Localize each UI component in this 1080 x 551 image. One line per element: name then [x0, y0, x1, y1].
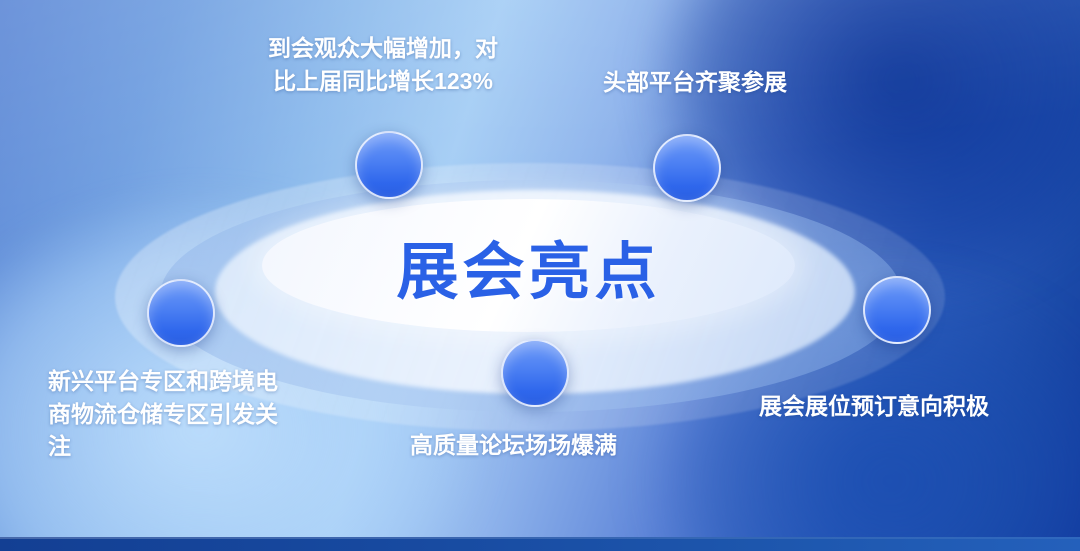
node-circle-5[interactable] [501, 339, 569, 407]
node-label-attendance-growth: 到会观众大幅增加，对 比上届同比增长123% [238, 32, 528, 97]
node-circle-3[interactable] [147, 279, 215, 347]
slide-canvas: 展会亮点 到会观众大幅增加，对 比上届同比增长123% 头部平台齐聚参展 新兴平… [0, 0, 1080, 551]
node-label-forums: 高质量论坛场场爆满 [410, 429, 710, 462]
page-title: 展会亮点 [262, 199, 795, 332]
node-circle-4[interactable] [863, 276, 931, 344]
bottom-accent-band [0, 537, 1080, 551]
node-circle-2[interactable] [653, 134, 721, 202]
node-label-new-zones: 新兴平台专区和跨境电 商物流仓储专区引发关 注 [48, 365, 338, 463]
node-label-booth-booking: 展会展位预订意向积极 [759, 390, 1059, 423]
node-circle-1[interactable] [355, 131, 423, 199]
node-label-top-platforms: 头部平台齐聚参展 [603, 66, 863, 99]
